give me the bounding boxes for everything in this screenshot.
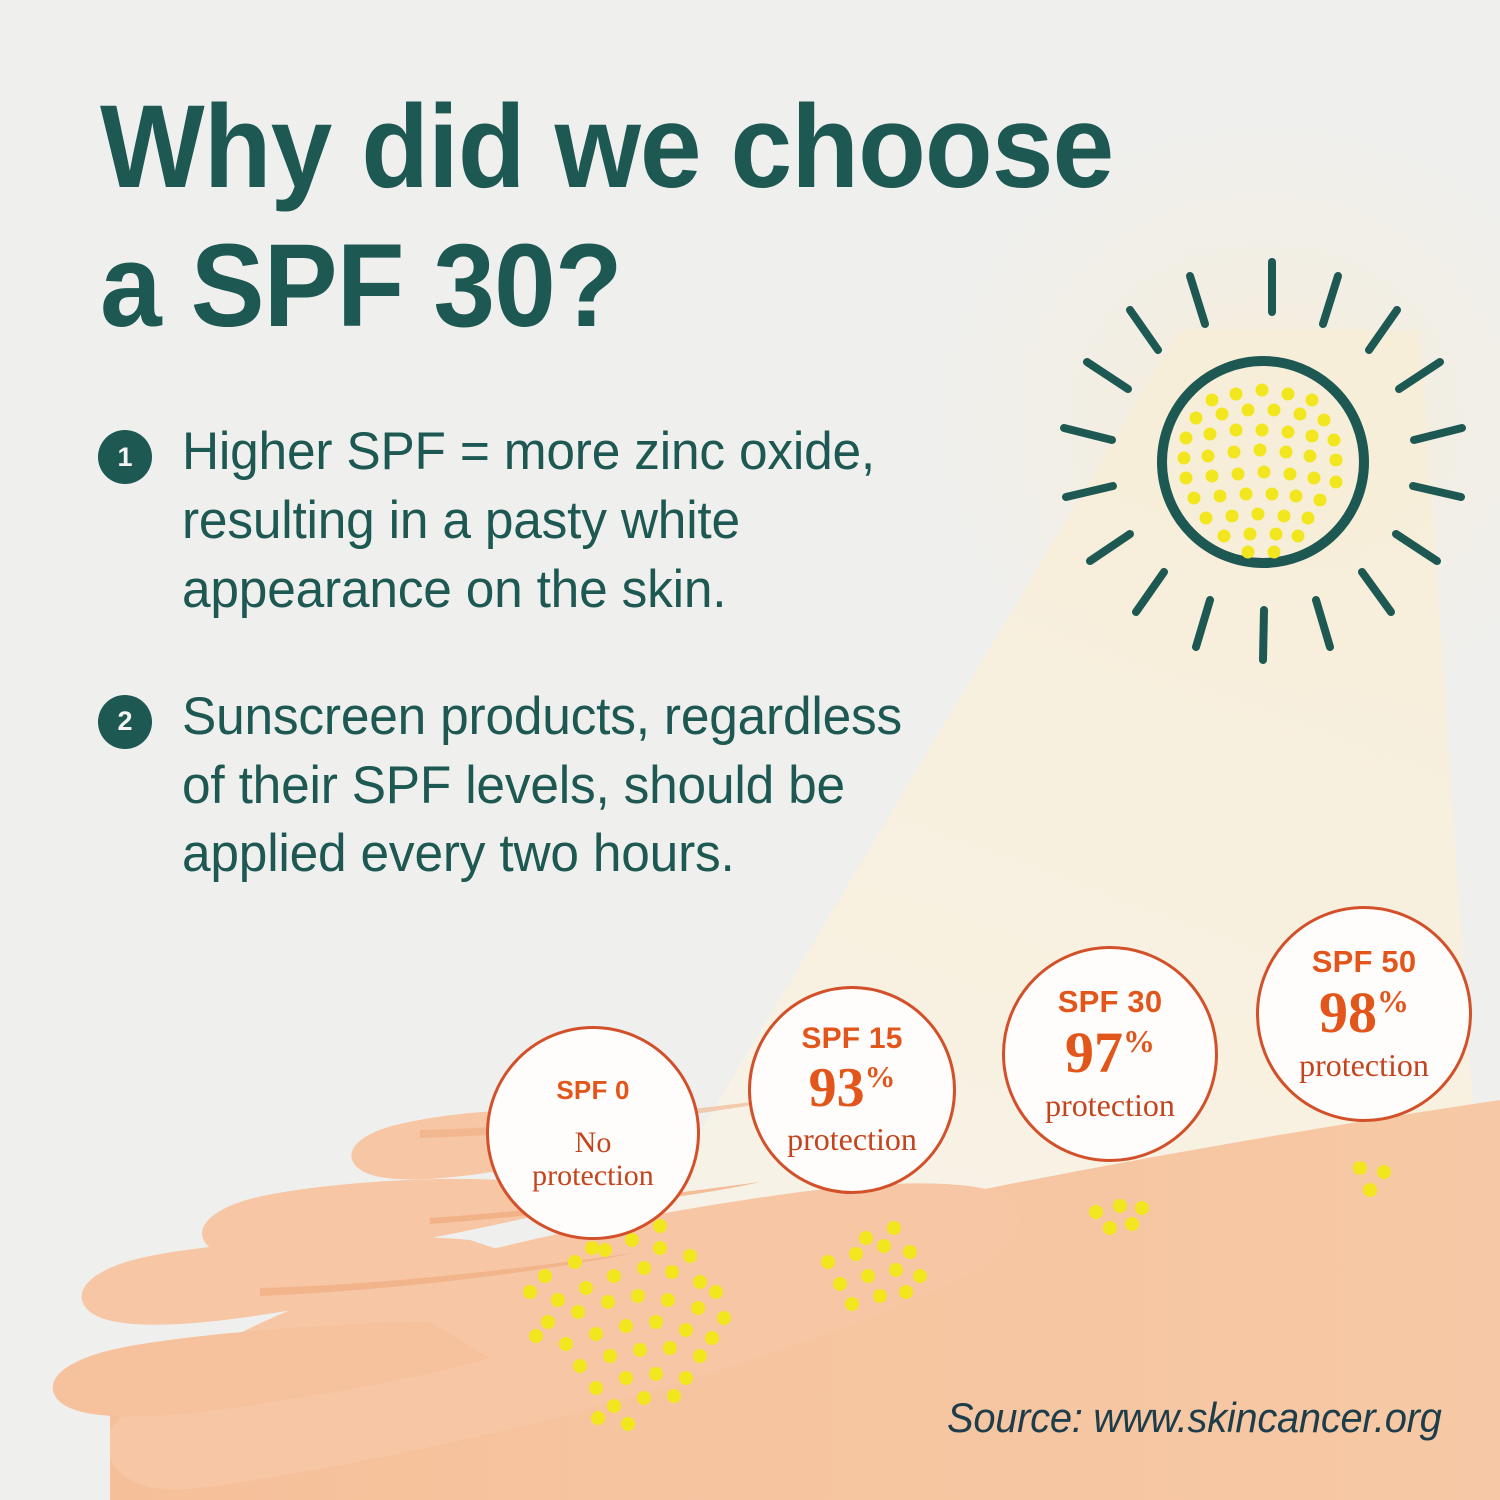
percent-symbol: %: [865, 1060, 896, 1094]
source-attribution: Source: www.skincancer.org: [947, 1394, 1442, 1442]
list-item-number-badge: 2: [98, 695, 152, 749]
spf-level-label: SPF 50: [1312, 944, 1417, 980]
spf-percent-number: 98: [1319, 980, 1377, 1045]
spf-percent-value: 98%: [1319, 984, 1409, 1042]
reasons-list: 1 Higher SPF = more zinc oxide, resultin…: [98, 418, 1188, 947]
spf-percent-number: 93: [809, 1057, 865, 1119]
page-title: Why did we choose a SPF 30?: [100, 78, 1209, 356]
spf-level-label: SPF 30: [1058, 984, 1163, 1020]
spf-circle-0: SPF 0 No protection: [486, 1026, 700, 1240]
spf-percent-value: 97%: [1065, 1024, 1155, 1082]
infographic-canvas: Why did we choose a SPF 30? 1 Higher SPF…: [0, 0, 1500, 1500]
list-item-text: Sunscreen products, regardless of their …: [182, 683, 902, 890]
list-item-number-badge: 1: [98, 430, 152, 484]
spf-protection-label: No protection: [532, 1126, 654, 1192]
spf-protection-label: protection: [1045, 1088, 1175, 1123]
spf-percent-value: 93%: [809, 1060, 896, 1116]
spf-level-label: SPF 15: [801, 1022, 902, 1056]
percent-symbol: %: [1123, 1025, 1155, 1060]
spf-protection-label: protection: [1299, 1048, 1429, 1083]
percent-symbol: %: [1377, 985, 1409, 1020]
spf-protection-label: protection: [787, 1122, 917, 1157]
spf-circle-30: SPF 30 97% protection: [1002, 946, 1218, 1162]
spf-circle-15: SPF 15 93% protection: [748, 986, 956, 1194]
list-item: 2 Sunscreen products, regardless of thei…: [98, 683, 1188, 890]
spf-level-label: SPF 0: [556, 1075, 629, 1106]
list-item-text: Higher SPF = more zinc oxide, resulting …: [182, 418, 875, 625]
spf-percent-number: 97: [1065, 1020, 1123, 1085]
spf-circle-50: SPF 50 98% protection: [1256, 906, 1472, 1122]
list-item: 1 Higher SPF = more zinc oxide, resultin…: [98, 418, 1188, 625]
